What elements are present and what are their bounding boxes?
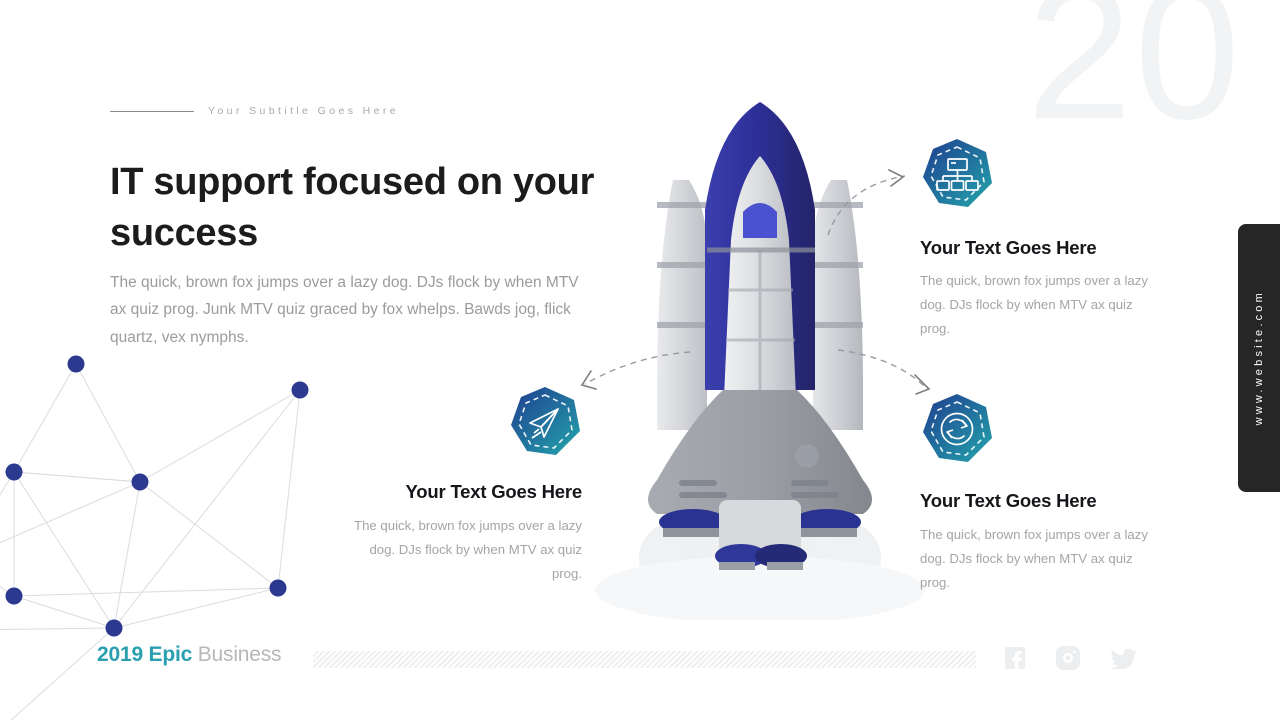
website-tab[interactable]: www.website.com [1238,224,1280,492]
footer-logo: 2019 Epic Business [97,643,281,667]
footer-logo-muted: Business [192,643,281,666]
eyebrow-rule [110,111,194,112]
feature-body-1: The quick, brown fox jumps over a lazy d… [920,269,1166,341]
footer-hatch-bar [313,651,976,668]
instagram-icon[interactable] [1056,646,1080,670]
eyebrow: Your Subtitle Goes Here [110,105,399,117]
presentation-slide: 20 [0,0,1280,720]
feature-item-3: Your Text Goes Here The quick, brown fox… [920,392,1170,595]
booster-left [657,180,707,430]
feature-title-3: Your Text Goes Here [920,490,1170,512]
feature-item-1: Your Text Goes Here The quick, brown fox… [920,137,1170,341]
rocket-illustration [595,90,925,620]
feature-body-3: The quick, brown fox jumps over a lazy d… [920,523,1160,595]
eyebrow-label: Your Subtitle Goes Here [208,105,399,117]
booster-right [813,180,863,430]
feature-icon-1[interactable] [920,137,994,211]
twitter-icon[interactable] [1110,647,1136,669]
feature-icon-3[interactable] [920,392,994,466]
feature-body-2: The quick, brown fox jumps over a lazy d… [352,514,582,586]
website-tab-label: www.website.com [1253,290,1265,425]
slide-number-watermark: 20 [1027,0,1242,148]
footer-logo-accent: 2019 Epic [97,643,192,666]
social-links [1004,646,1136,670]
lead-paragraph: The quick, brown fox jumps over a lazy d… [110,269,590,352]
facebook-icon[interactable] [1004,646,1026,670]
page-title: IT support focused on your success [110,157,630,257]
cockpit-window [743,203,777,238]
feature-title-1: Your Text Goes Here [920,237,1170,259]
feature-icon-2[interactable] [508,385,582,459]
feature-item-2: Your Text Goes Here The quick, brown fox… [352,385,582,586]
feature-title-2: Your Text Goes Here [352,481,582,503]
